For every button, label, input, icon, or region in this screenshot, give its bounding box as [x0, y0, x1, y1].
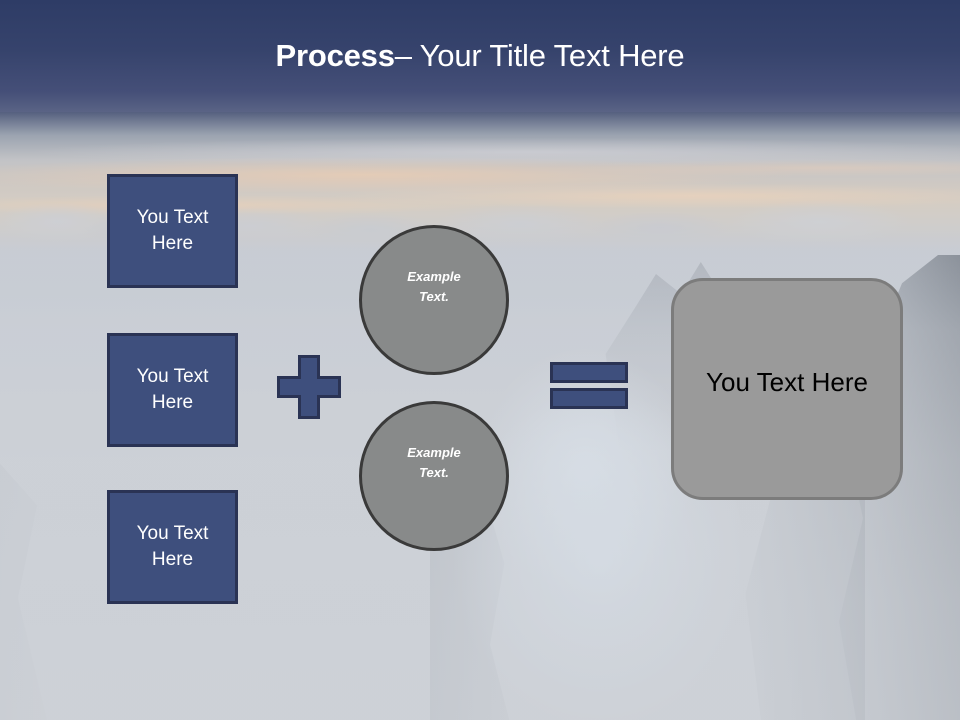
result-box[interactable]: You Text Here [671, 278, 903, 500]
equals-icon [550, 362, 628, 409]
presentation-slide: Process – Your Title Text Here You Text … [0, 0, 960, 720]
example-circle-1[interactable]: ExampleText. [359, 225, 509, 375]
plus-icon [277, 355, 341, 419]
input-box-2[interactable]: You Text Here [107, 333, 238, 447]
page-title: Process – Your Title Text Here [0, 0, 960, 112]
input-box-1[interactable]: You Text Here [107, 174, 238, 288]
example-circle-2[interactable]: ExampleText. [359, 401, 509, 551]
title-strong-part: Process [276, 38, 395, 74]
input-box-3[interactable]: You Text Here [107, 490, 238, 604]
example-circle-1-label: ExampleText. [407, 267, 460, 307]
title-rest-part: – Your Title Text Here [395, 38, 685, 74]
equals-top-bar [550, 362, 628, 383]
equals-bottom-bar [550, 388, 628, 409]
example-circle-2-label: ExampleText. [407, 443, 460, 483]
plus-vertical-fill [301, 358, 317, 416]
